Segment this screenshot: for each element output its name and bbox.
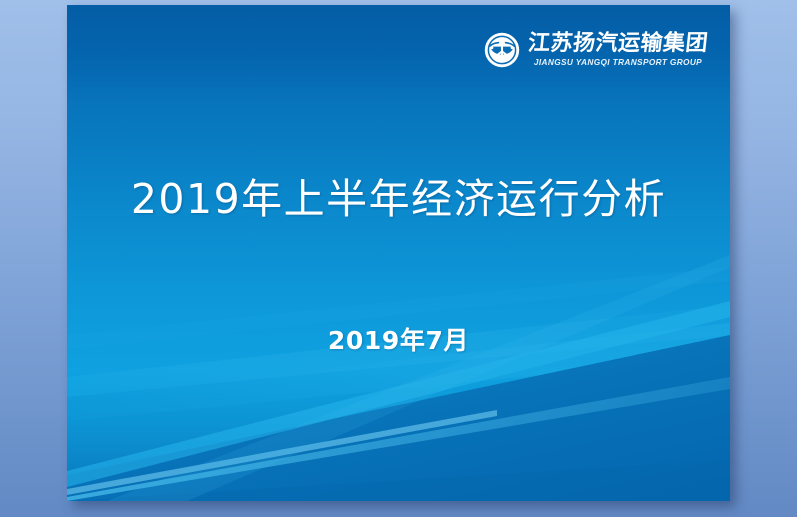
slide-canvas[interactable]: 江苏扬汽运输集团 JIANGSU YANGQI TRANSPORT GROUP … (67, 5, 730, 501)
circular-emblem-icon (483, 31, 521, 69)
brand-name-en: JIANGSU YANGQI TRANSPORT GROUP (528, 58, 708, 66)
slide-subtitle: 2019年7月 (67, 321, 730, 357)
brand-wordmark: 江苏扬汽运输集团 JIANGSU YANGQI TRANSPORT GROUP (528, 33, 708, 66)
presentation-viewport: 江苏扬汽运输集团 JIANGSU YANGQI TRANSPORT GROUP … (0, 0, 797, 517)
brand-name-cn: 江苏扬汽运输集团 (527, 33, 709, 55)
brand-logo: 江苏扬汽运输集团 JIANGSU YANGQI TRANSPORT GROUP (483, 29, 708, 71)
slide-title: 2019年上半年经济运行分析 (67, 165, 730, 225)
